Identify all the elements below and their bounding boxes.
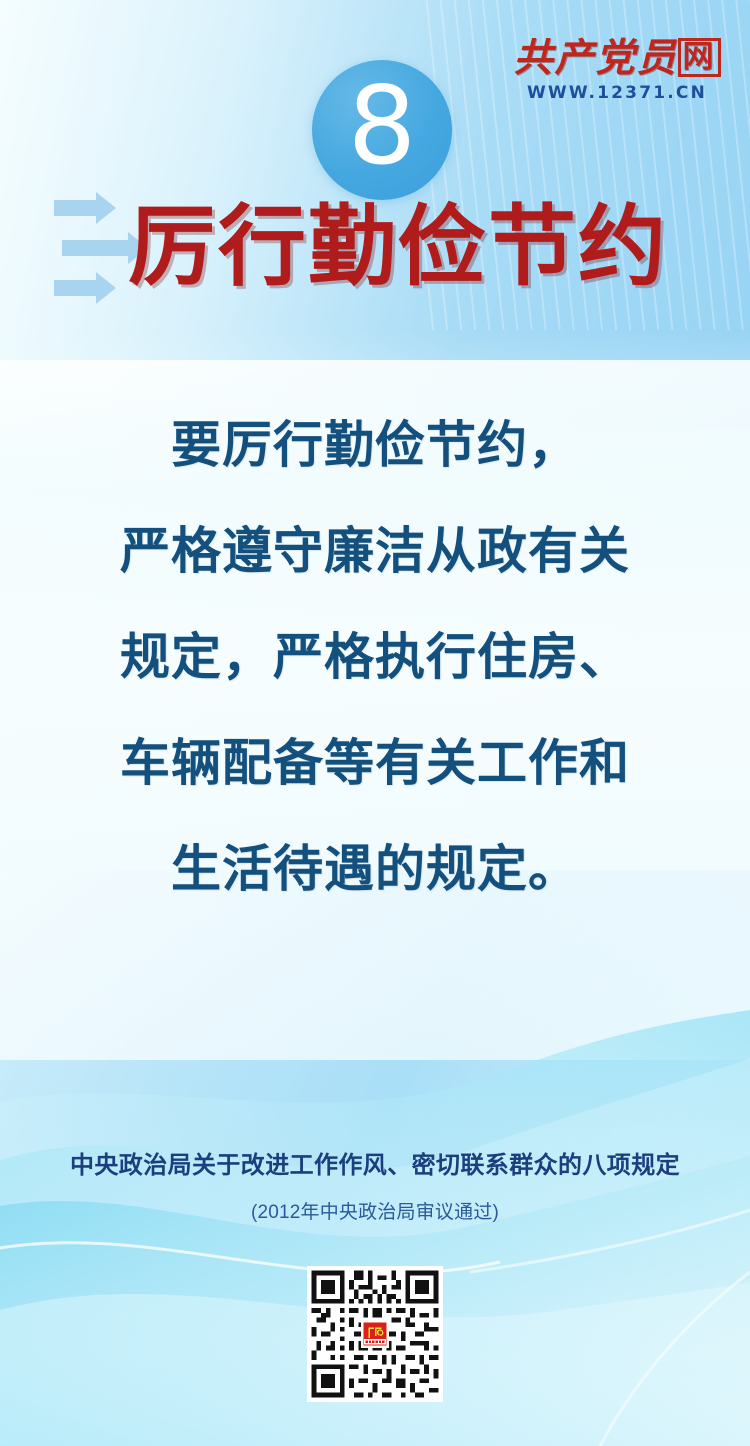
- qr-code[interactable]: [307, 1266, 443, 1402]
- poster-root: 8 共产党员网 WWW.12371.CN 厉行勤俭节约 要厉行勤俭节约， 严格遵…: [0, 0, 750, 1446]
- footer-headline: 中央政治局关于改进工作作风、密切联系群众的八项规定: [0, 1145, 750, 1180]
- body-line: 生活待遇的规定。: [0, 816, 750, 922]
- body-line: 车辆配备等有关工作和: [0, 710, 750, 816]
- number-badge: 8: [312, 60, 452, 200]
- body-line: 规定，严格执行住房、: [0, 604, 750, 710]
- site-logo-brand-boxed: 网: [678, 38, 721, 77]
- body-line: 严格遵守廉洁从政有关: [0, 498, 750, 604]
- body-paragraph: 要厉行勤俭节约， 严格遵守廉洁从政有关 规定，严格执行住房、 车辆配备等有关工作…: [0, 392, 750, 922]
- site-logo-url: WWW.12371.CN: [502, 83, 732, 103]
- number-badge-value: 8: [348, 73, 417, 181]
- page-title: 厉行勤俭节约: [128, 196, 668, 297]
- footer-subtitle: (2012年中央政治局审议通过): [0, 1197, 750, 1224]
- qr-code-image: [307, 1266, 443, 1402]
- site-logo-brand: 共产党员: [513, 35, 677, 81]
- site-logo[interactable]: 共产党员网 WWW.12371.CN: [502, 38, 732, 103]
- body-line: 要厉行勤俭节约，: [0, 392, 750, 498]
- site-logo-wordmark: 共产党员网: [502, 38, 732, 79]
